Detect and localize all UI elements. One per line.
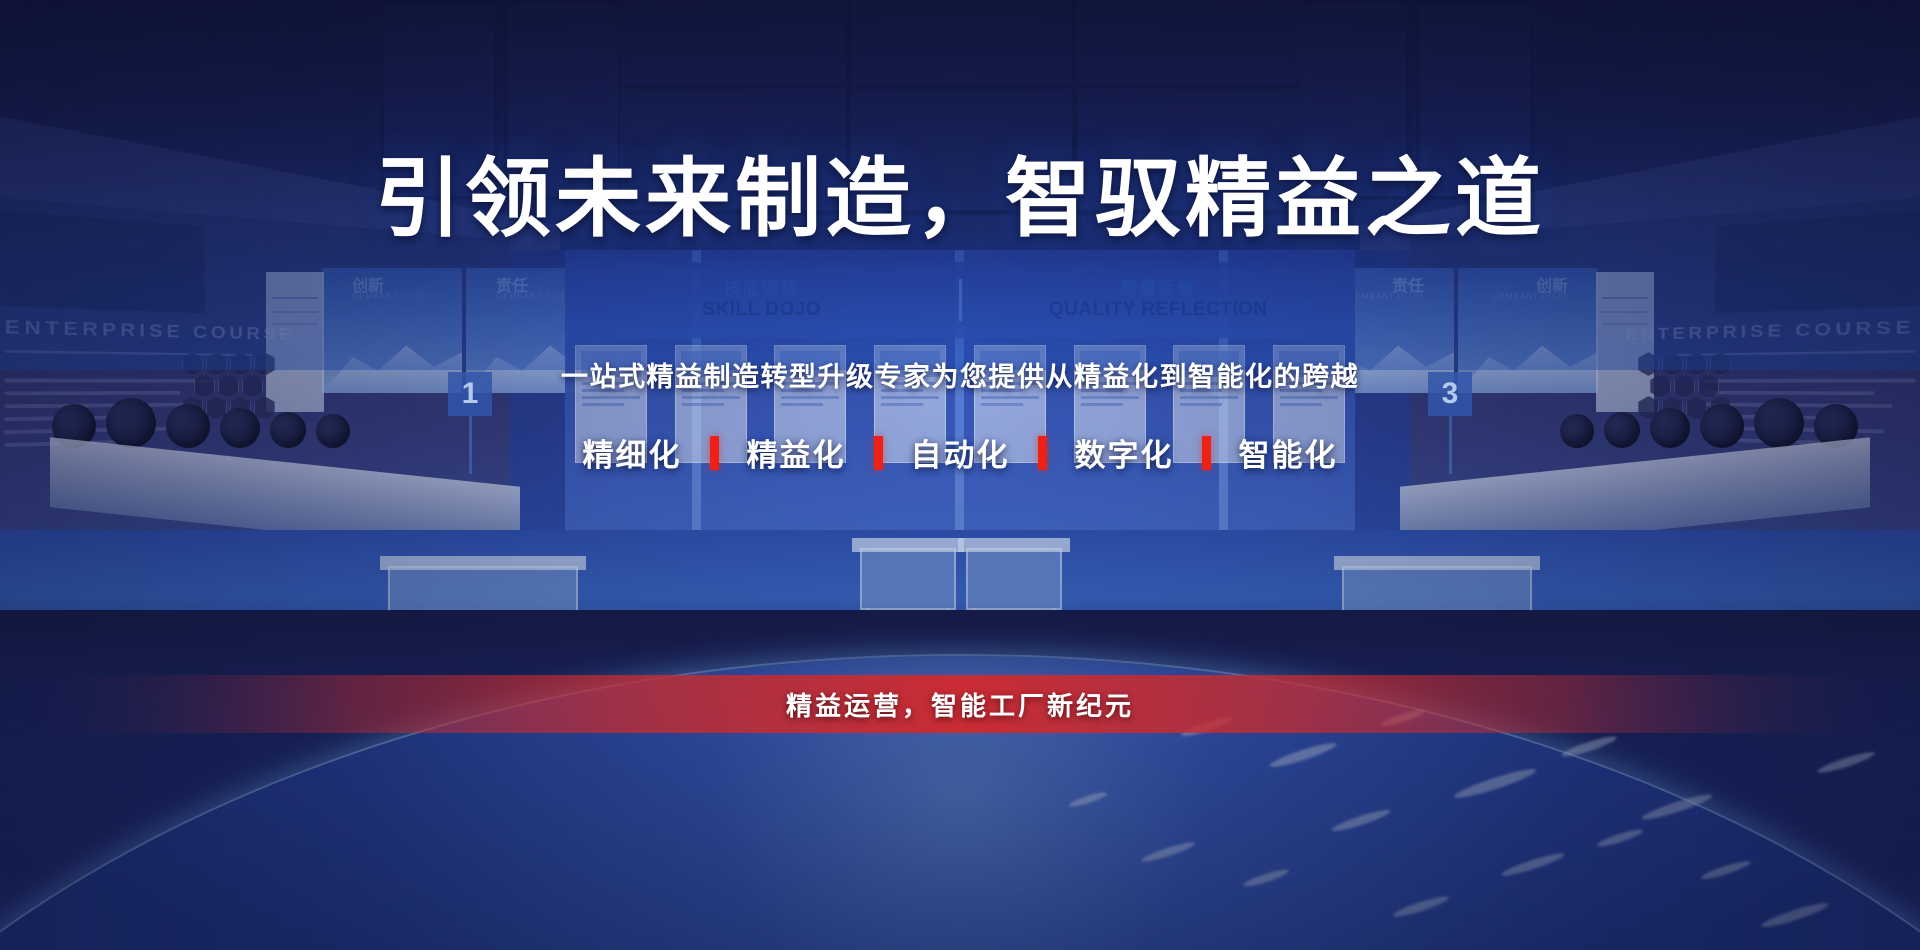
keyword-item[interactable]: 智能化 xyxy=(1217,430,1360,475)
keyword-list: 精细化 精益化 自动化 数字化 智能化 xyxy=(0,430,1920,475)
hero-banner: ENTERPRISE COURSE ENTERPRISE COURSE 创新 G… xyxy=(0,0,1920,950)
banner-content: 1 3 引领未来制造，智驭精益之道 一站式精益制造转型升级专家为您提供从精益化到… xyxy=(0,0,1920,950)
keyword-separator-icon xyxy=(874,436,883,470)
keyword-item[interactable]: 精益化 xyxy=(725,430,868,475)
page-subtitle: 一站式精益制造转型升级专家为您提供从精益化到智能化的跨越 xyxy=(0,355,1920,394)
keyword-item[interactable]: 数字化 xyxy=(1053,430,1196,475)
keyword-separator-icon xyxy=(1038,436,1047,470)
keyword-separator-icon xyxy=(1202,436,1211,470)
tagline-text: 精益运营，智能工厂新纪元 xyxy=(786,686,1134,723)
tagline-ribbon: 精益运营，智能工厂新纪元 xyxy=(0,675,1920,733)
keyword-separator-icon xyxy=(710,436,719,470)
keyword-item[interactable]: 自动化 xyxy=(889,430,1032,475)
page-title: 引领未来制造，智驭精益之道 xyxy=(0,128,1920,253)
keyword-item[interactable]: 精细化 xyxy=(561,430,704,475)
